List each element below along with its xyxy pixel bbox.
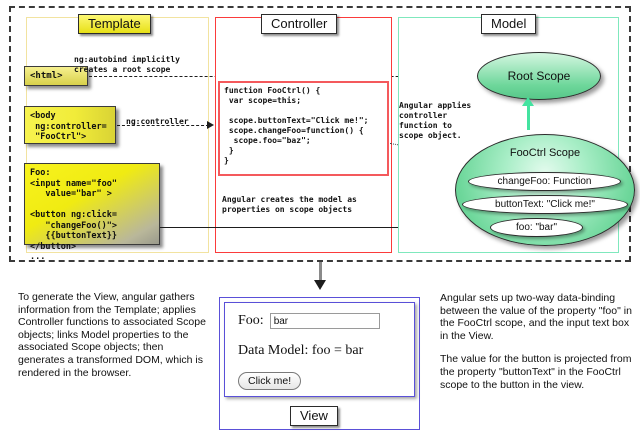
prose-left-paragraph: To generate the View, angular gathers in… (18, 291, 210, 379)
prose-right: Angular sets up two-way data-binding bet… (440, 292, 632, 402)
arrow-body-to-controller (207, 121, 214, 129)
panel-model-caption: Model (481, 14, 536, 34)
view-foo-label: Foo: (238, 313, 264, 329)
view-click-me-button[interactable]: Click me! (238, 372, 301, 390)
connector-body-to-controller (117, 125, 209, 126)
scope-inherit-arrow-shaft (527, 104, 530, 130)
diagram-canvas: Template <html> <body ng:controller= "Fo… (0, 0, 640, 446)
view-data-model-text: Data Model: foo = bar (238, 343, 363, 359)
view-foo-row: Foo: (238, 313, 380, 329)
connector-frame-to-view (319, 262, 322, 282)
scope-property-foo: foo: "bar" (490, 218, 583, 237)
view-foo-input[interactable] (270, 313, 380, 329)
panel-view-caption: View (290, 406, 338, 426)
scope-property-changefoo: changeFoo: Function (468, 172, 621, 191)
template-body-box: <body ng:controller= "FooCtrl"> (24, 106, 116, 144)
scope-inherit-arrow-head (522, 97, 534, 106)
prose-left: To generate the View, angular gathers in… (18, 291, 210, 390)
annotation-creates-model: Angular creates the model as properties … (222, 195, 357, 215)
prose-right-paragraph-2: The value for the button is projected fr… (440, 353, 632, 391)
prose-right-paragraph-1: Angular sets up two-way data-binding bet… (440, 292, 632, 342)
panel-controller-caption: Controller (261, 14, 337, 34)
root-scope-ellipse: Root Scope (477, 52, 601, 100)
controller-code: function FooCtrl() { var scope=this; sco… (224, 86, 388, 166)
scope-property-buttontext: buttonText: "Click me!" (462, 195, 628, 214)
panel-template-caption: Template (78, 14, 151, 34)
annotation-autobind: ng:autobind implicitly creates a root sc… (74, 55, 180, 75)
arrow-frame-to-view (314, 280, 326, 290)
template-foo-markup-box: Foo: <input name="foo" value="bar" > <bu… (24, 163, 160, 245)
annotation-applies-controller: Angular applies controller function to s… (399, 101, 471, 141)
